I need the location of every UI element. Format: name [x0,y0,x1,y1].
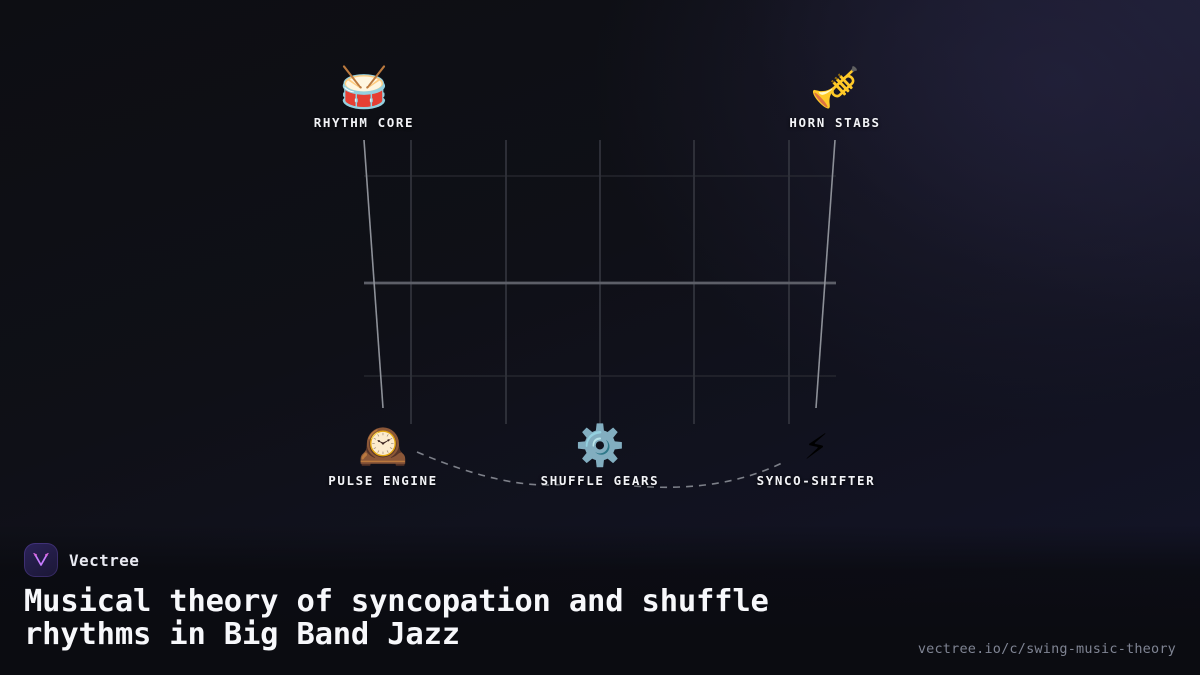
source-url: vectree.io/c/swing-music-theory [918,641,1176,657]
graph-node-label: PULSE ENGINE [328,473,438,488]
graph-node-shuffle-gears[interactable]: ⚙️ SHUFFLE GEARS [485,424,715,489]
graph-node-pulse-engine[interactable]: 🕰️ PULSE ENGINE [268,424,498,489]
graph-node-label: RHYTHM CORE [314,115,414,130]
grid-horizontal-lines [364,176,836,376]
graph-node-horn-stabs[interactable]: 🎺 HORN STABS [720,66,950,131]
edge-horn-stabs-to-synco-shifter [816,140,835,408]
graph-node-label: SYNCO-SHIFTER [757,473,876,488]
graph-node-label: HORN STABS [789,115,880,130]
graph-node-label: SHUFFLE GEARS [541,473,660,488]
page-headline: Musical theory of syncopation and shuffl… [24,586,954,652]
high-voltage-emoji: ⚡ [701,424,931,470]
graph-node-synco-shifter[interactable]: ⚡ SYNCO-SHIFTER [701,424,931,489]
trumpet-emoji: 🎺 [720,66,950,112]
brand-row[interactable]: Vectree [24,543,1176,577]
vectree-logo-icon [24,543,58,577]
drum-emoji: 🥁 [249,66,479,112]
caption-bar: Vectree Musical theory of syncopation an… [0,525,1200,675]
graph-node-rhythm-core[interactable]: 🥁 RHYTHM CORE [249,66,479,131]
grid-vertical-lines [411,140,789,424]
mantelpiece-clock-emoji: 🕰️ [268,424,498,470]
brand-name: Vectree [69,551,139,570]
edge-rhythm-core-to-pulse-engine [364,140,383,408]
gear-emoji: ⚙️ [485,424,715,470]
edges-solid [364,140,835,408]
graph-poster: 🥁 RHYTHM CORE 🎺 HORN STABS 🕰️ PULSE ENGI… [0,0,1200,675]
